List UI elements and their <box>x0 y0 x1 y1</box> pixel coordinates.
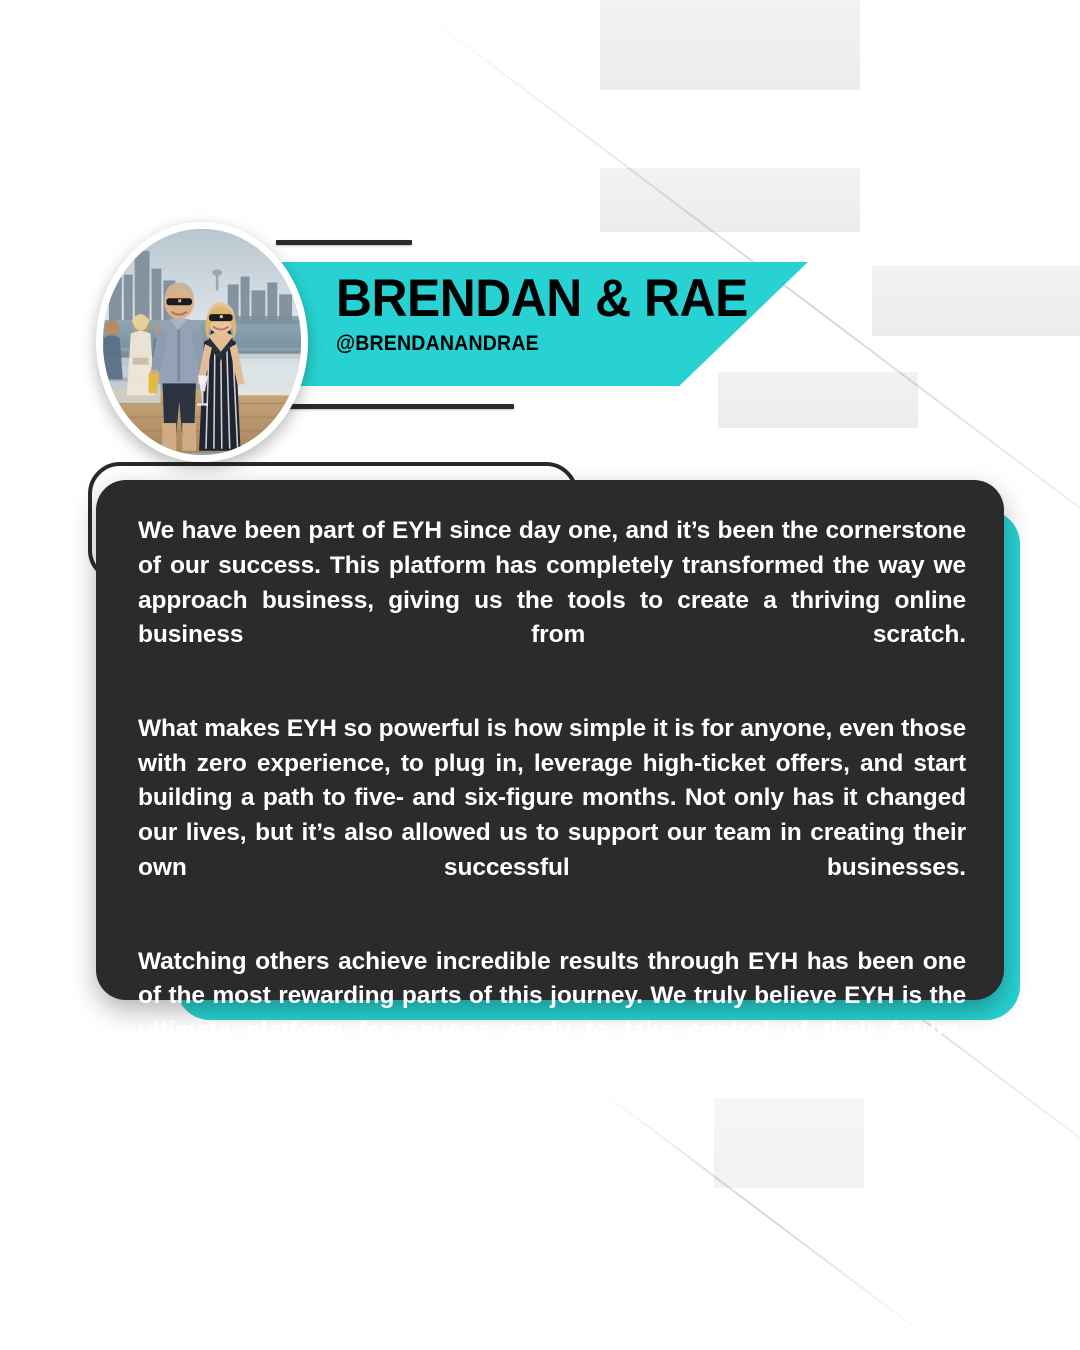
decorative-rule-bottom <box>286 404 514 409</box>
testimonial-card: We have been part of EYH since day one, … <box>96 480 1004 1000</box>
profile-handle: @BRENDANANDRAE <box>336 332 743 356</box>
testimonial-card-group: We have been part of EYH since day one, … <box>80 458 1020 1028</box>
avatar <box>96 222 308 462</box>
avatar-photo <box>103 229 301 453</box>
testimonial-paragraph: What makes EYH so powerful is how simple… <box>138 712 966 921</box>
background-block <box>714 1098 864 1188</box>
name-banner-text: BRENDAN & RAE @BRENDANANDRAE <box>336 272 774 356</box>
testimonial-paragraph: Watching others achieve incredible resul… <box>138 945 966 1084</box>
avatar-image-clip <box>103 229 301 455</box>
testimonial-paragraph: We have been part of EYH since day one, … <box>138 514 966 688</box>
testimonial-graphic: WINNING BRENDAN & RAE @BRENDANANDRAE <box>0 0 1080 1350</box>
profile-header: BRENDAN & RAE @BRENDANANDRAE <box>0 0 1080 470</box>
profile-name: BRENDAN & RAE <box>336 272 748 325</box>
